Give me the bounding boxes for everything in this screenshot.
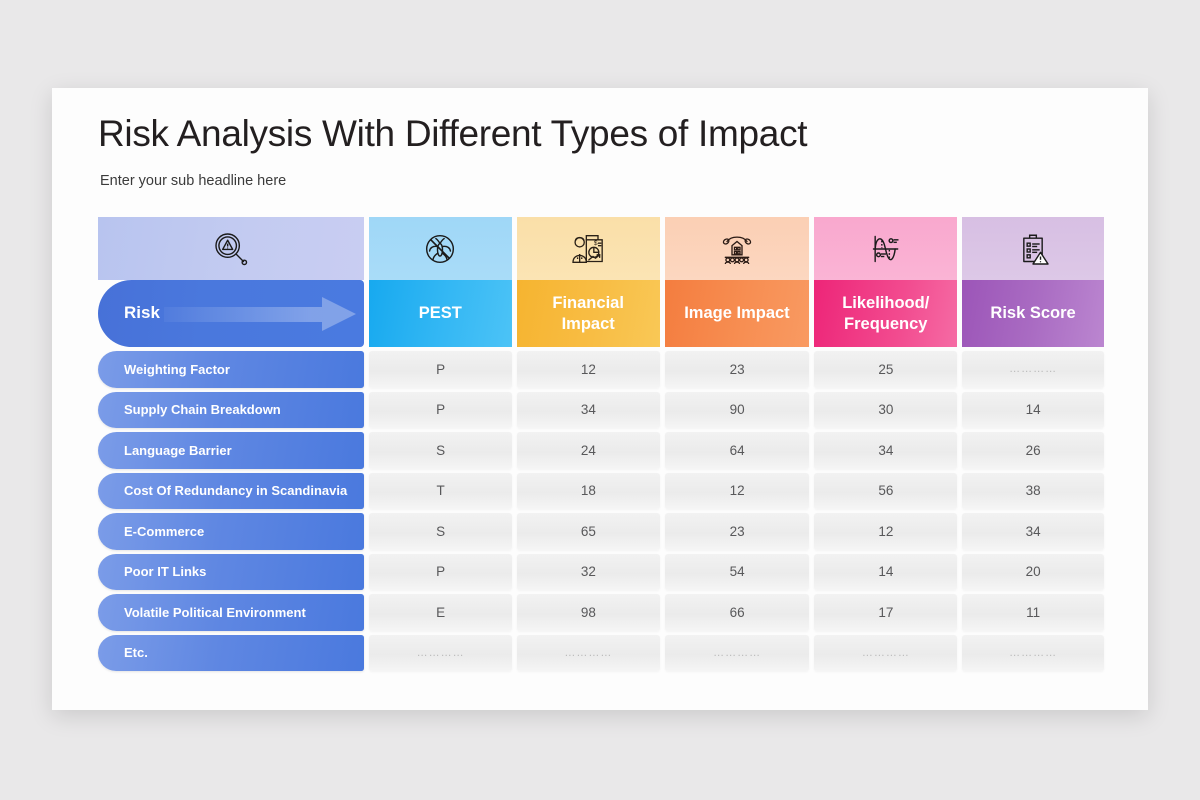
cell-pest: S (369, 513, 512, 550)
column-header-label-likelihood: Likelihood/Frequency (814, 280, 957, 347)
cell-pest: T (369, 473, 512, 510)
icon-band-risk (98, 217, 364, 280)
row-label: Cost Of Redundancy in Scandinavia (98, 473, 364, 510)
cell-likelihood: ………… (814, 635, 957, 672)
cell-likelihood: 14 (814, 554, 957, 591)
clipboard-warning-icon (1013, 229, 1053, 269)
table-row[interactable]: Cost Of Redundancy in ScandinaviaT181256… (98, 473, 1104, 510)
row-label: Weighting Factor (98, 351, 364, 388)
icon-band-score (962, 217, 1104, 280)
cell-image: 23 (665, 513, 810, 550)
cell-score: 34 (962, 513, 1104, 550)
cell-image: 12 (665, 473, 810, 510)
column-header-label-risk: Risk (98, 303, 160, 324)
cell-financial: 24 (517, 432, 660, 469)
column-header-label-pest: PEST (369, 280, 512, 347)
cell-financial: 18 (517, 473, 660, 510)
cell-financial: 34 (517, 392, 660, 429)
cell-image: 54 (665, 554, 810, 591)
row-label: E-Commerce (98, 513, 364, 550)
financial-report-icon: $ (568, 229, 608, 269)
svg-text:$: $ (594, 239, 598, 246)
column-header-likelihood-frequency[interactable]: Likelihood/Frequency (814, 217, 957, 347)
icon-band-financial: $ (517, 217, 660, 280)
column-header-risk-score[interactable]: Risk Score (962, 217, 1104, 347)
column-header-pest[interactable]: PEST (369, 217, 512, 347)
wave-chart-icon (866, 229, 906, 269)
risk-analysis-table: Risk (98, 217, 1104, 671)
row-label: Volatile Political Environment (98, 594, 364, 631)
cell-image: 23 (665, 351, 810, 388)
icon-band-pest (369, 217, 512, 280)
table-header-row: Risk (98, 217, 1104, 347)
page-subtitle: Enter your sub headline here (100, 173, 286, 189)
cell-financial: 65 (517, 513, 660, 550)
row-label: Supply Chain Breakdown (98, 392, 364, 429)
table-row[interactable]: Etc.…………………………………………………… (98, 635, 1104, 672)
cell-image: 66 (665, 594, 810, 631)
table-row[interactable]: Supply Chain BreakdownP34903014 (98, 392, 1104, 429)
row-label: Language Barrier (98, 432, 364, 469)
reputation-building-icon (717, 229, 757, 269)
cell-image: 90 (665, 392, 810, 429)
cell-score: ………… (962, 635, 1104, 672)
table-row[interactable]: Weighting FactorP122325………… (98, 351, 1104, 388)
cell-likelihood: 25 (814, 351, 957, 388)
cell-pest: ………… (369, 635, 512, 672)
cell-score: ………… (962, 351, 1104, 388)
cell-likelihood: 17 (814, 594, 957, 631)
table-row[interactable]: Volatile Political EnvironmentE98661711 (98, 594, 1104, 631)
cell-pest: P (369, 554, 512, 591)
no-pest-icon (420, 229, 460, 269)
arrow-right-icon (164, 297, 356, 331)
row-label: Etc. (98, 635, 364, 672)
row-label: Poor IT Links (98, 554, 364, 591)
column-header-financial-impact[interactable]: $ (517, 217, 660, 347)
cell-likelihood: 34 (814, 432, 957, 469)
cell-financial: 32 (517, 554, 660, 591)
cell-financial: 98 (517, 594, 660, 631)
table-body: Weighting FactorP122325…………Supply Chain … (98, 351, 1104, 671)
table-row[interactable]: Language BarrierS24643426 (98, 432, 1104, 469)
column-header-image-impact[interactable]: Image Impact (665, 217, 810, 347)
cell-image: 64 (665, 432, 810, 469)
table-row[interactable]: E-CommerceS65231234 (98, 513, 1104, 550)
icon-band-likelihood (814, 217, 957, 280)
cell-score: 14 (962, 392, 1104, 429)
cell-image: ………… (665, 635, 810, 672)
slide-card: Risk Analysis With Different Types of Im… (52, 88, 1148, 710)
cell-pest: P (369, 392, 512, 429)
cell-likelihood: 12 (814, 513, 957, 550)
cell-score: 26 (962, 432, 1104, 469)
cell-pest: S (369, 432, 512, 469)
cell-score: 20 (962, 554, 1104, 591)
cell-pest: E (369, 594, 512, 631)
label-band-risk: Risk (98, 280, 364, 347)
cell-pest: P (369, 351, 512, 388)
column-header-label-image: Image Impact (665, 280, 810, 347)
cell-financial: 12 (517, 351, 660, 388)
column-header-label-score: Risk Score (962, 280, 1104, 347)
page-title: Risk Analysis With Different Types of Im… (98, 113, 807, 155)
column-header-label-financial: FinancialImpact (517, 280, 660, 347)
cell-likelihood: 30 (814, 392, 957, 429)
cell-likelihood: 56 (814, 473, 957, 510)
cell-financial: ………… (517, 635, 660, 672)
column-header-risk[interactable]: Risk (98, 217, 364, 347)
icon-band-image (665, 217, 810, 280)
cell-score: 11 (962, 594, 1104, 631)
table-row[interactable]: Poor IT LinksP32541420 (98, 554, 1104, 591)
cell-score: 38 (962, 473, 1104, 510)
magnifier-warning-icon (211, 229, 251, 269)
